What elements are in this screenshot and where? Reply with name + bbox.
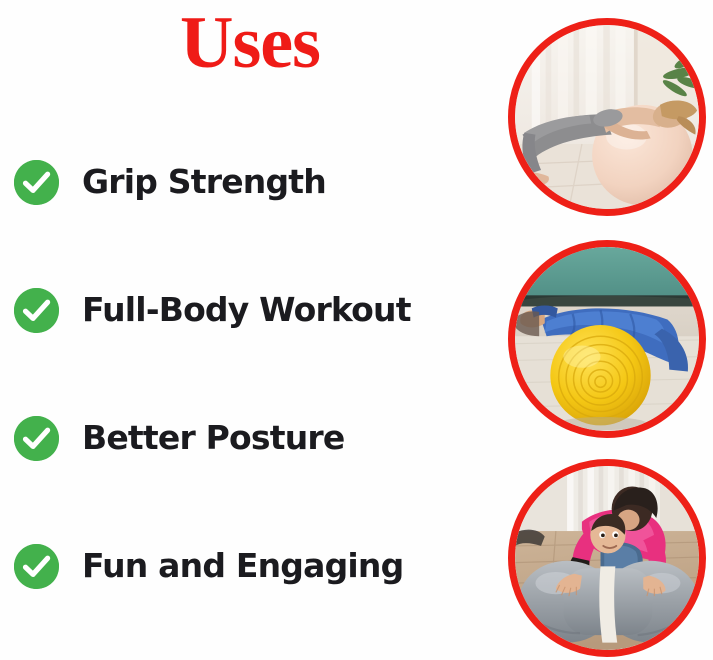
photo-image <box>515 466 699 650</box>
page-title: Uses <box>0 2 500 84</box>
list-item-label: Fun and Engaging <box>82 548 403 584</box>
check-circle-icon <box>14 544 59 589</box>
photo-image <box>515 25 699 209</box>
photo-therapist-and-child-on-gray-peanut-ball <box>508 459 706 657</box>
photo-image <box>515 247 699 431</box>
check-circle-icon <box>14 160 59 205</box>
photo-woman-plank-on-peach-exercise-ball <box>508 18 706 216</box>
list-item: Full-Body Workout <box>0 246 500 374</box>
photo-person-blue-trousers-on-yellow-exercise-ball <box>508 240 706 438</box>
list-item-label: Better Posture <box>82 420 344 456</box>
list-item: Better Posture <box>0 374 500 502</box>
uses-infographic: Uses Grip Strength Full-Body Workout <box>0 0 713 660</box>
list-item-label: Full-Body Workout <box>82 292 411 328</box>
list-item: Fun and Engaging <box>0 502 500 630</box>
check-circle-icon <box>14 288 59 333</box>
list-item-label: Grip Strength <box>82 164 326 200</box>
check-circle-icon <box>14 416 59 461</box>
list-item: Grip Strength <box>0 118 500 246</box>
benefits-list: Grip Strength Full-Body Workout Better P… <box>0 118 500 630</box>
